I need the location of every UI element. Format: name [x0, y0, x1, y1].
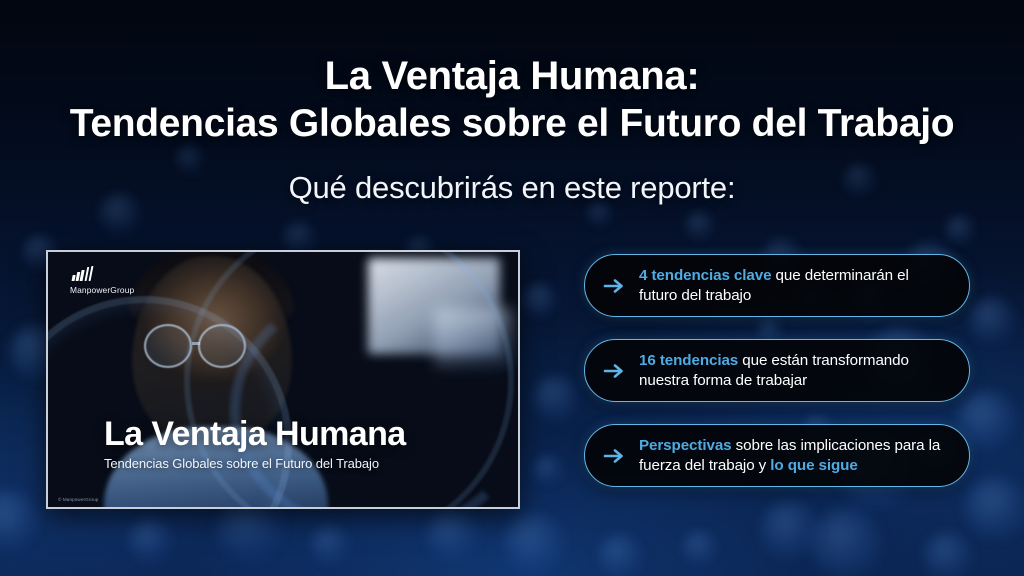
highlights-list: 4 tendencias clave que determinarán el f… [584, 254, 970, 487]
highlight-pill-emphasis-secondary: lo que sigue [770, 457, 857, 474]
highlight-pill[interactable]: Perspectivas sobre las implicaciones par… [584, 424, 970, 487]
slide-root: La Ventaja Humana: Tendencias Globales s… [0, 0, 1024, 576]
arrow-right-icon [603, 445, 625, 467]
highlight-pill[interactable]: 16 tendencias que están transformando nu… [584, 339, 970, 402]
highlight-pill-text: 16 tendencias que están transformando nu… [639, 351, 949, 389]
headline-block: La Ventaja Humana: Tendencias Globales s… [0, 54, 1024, 206]
page-title-line1: La Ventaja Humana: [0, 54, 1024, 100]
bokeh-dot [965, 477, 1024, 539]
bokeh-dot [598, 534, 642, 576]
highlight-pill-text: Perspectivas sobre las implicaciones par… [639, 436, 949, 474]
bokeh-dot [533, 375, 579, 421]
highlight-pill[interactable]: 4 tendencias clave que determinarán el f… [584, 254, 970, 317]
bokeh-dot [682, 530, 718, 566]
bokeh-dot [924, 532, 972, 576]
highlight-pill-emphasis: Perspectivas [639, 437, 732, 454]
highlight-pill-emphasis: 16 tendencias [639, 352, 738, 369]
bokeh-dot [945, 215, 975, 245]
cover-title: La Ventaja Humana [104, 417, 406, 451]
bokeh-dot [761, 501, 819, 559]
bokeh-dot [523, 283, 557, 317]
manpowergroup-bars-logo-icon [72, 266, 136, 281]
report-cover-artwork: ManpowerGroup La Ventaja Humana Tendenci… [48, 252, 518, 507]
bokeh-dot [310, 525, 350, 565]
cover-logo-wordmark: ManpowerGroup [70, 285, 134, 295]
cover-logo: ManpowerGroup [70, 266, 134, 295]
bokeh-dot [0, 490, 38, 550]
bokeh-dot [969, 297, 1015, 343]
page-title-line2: Tendencias Globales sobre el Futuro del … [0, 102, 1024, 146]
highlight-pill-text: 4 tendencias clave que determinarán el f… [639, 266, 949, 304]
highlight-pill-emphasis: 4 tendencias clave [639, 267, 771, 284]
bokeh-dot [533, 455, 563, 485]
cover-title-block: La Ventaja Humana Tendencias Globales so… [104, 417, 406, 471]
cover-copyright: © ManpowerGroup [58, 497, 98, 502]
bokeh-dot [811, 509, 881, 576]
bokeh-dot [504, 514, 564, 574]
report-cover-thumbnail[interactable]: ManpowerGroup La Ventaja Humana Tendenci… [46, 250, 520, 509]
cover-subtitle: Tendencias Globales sobre el Futuro del … [104, 456, 406, 471]
bokeh-dot [685, 211, 715, 241]
bokeh-dot [426, 508, 478, 560]
arrow-right-icon [603, 275, 625, 297]
arrow-right-icon [603, 360, 625, 382]
bokeh-dot [128, 518, 172, 562]
page-subtitle: Qué descubrirás en este reporte: [0, 170, 1024, 206]
